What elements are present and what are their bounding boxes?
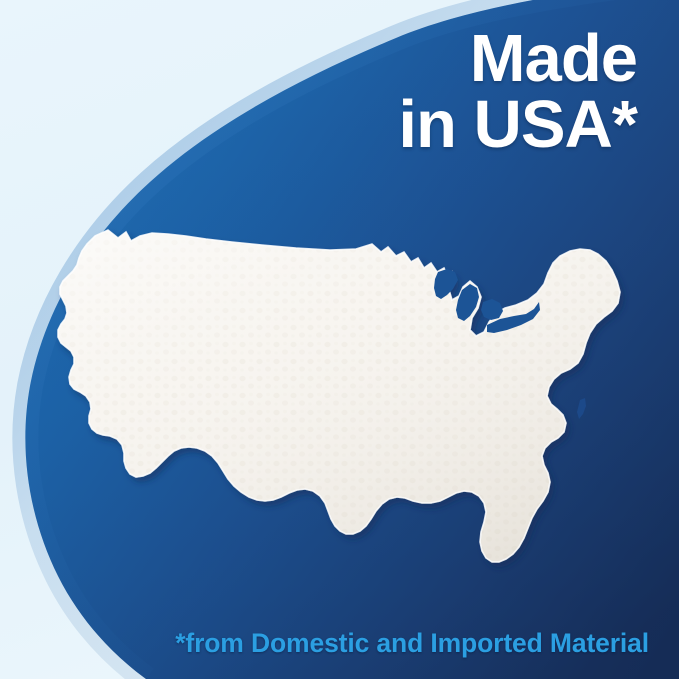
made-in-usa-graphic: Made in USA* *from Domestic and Imported… <box>0 0 679 679</box>
headline-line-1: Made <box>398 28 637 90</box>
footnote-disclaimer: *from Domestic and Imported Material <box>0 628 649 659</box>
headline: Made in USA* <box>398 28 637 155</box>
headline-line-2: in USA* <box>398 94 637 156</box>
